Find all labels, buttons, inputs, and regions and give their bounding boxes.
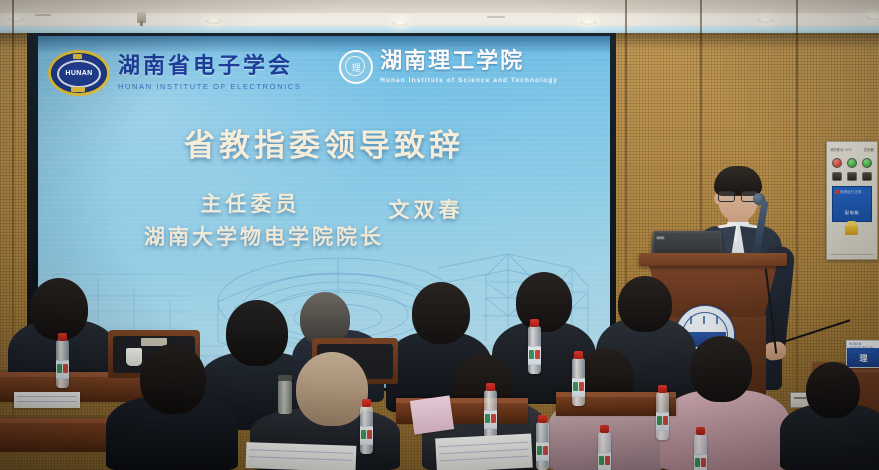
audience-person-head-bald — [296, 352, 368, 426]
hunan-electronics-logo: HUNAN 湖南省电子学会 HUNAN INSTITUTE OF ELECTRO… — [48, 50, 301, 96]
lectern-top-surface — [639, 253, 787, 266]
control-panel-lcd: 系统运行正常 配电箱 — [832, 186, 872, 222]
bell-icon — [845, 225, 858, 235]
university-crest-icon: 理 — [339, 50, 373, 84]
hunan-mark-text: HUNAN — [65, 70, 92, 77]
lcd-label: 配电箱 — [833, 210, 871, 216]
slide-speaker-name: 文双春 — [389, 194, 464, 224]
placard-name: 理 — [847, 353, 879, 364]
slide-role: 主任委员 — [201, 188, 301, 218]
hunan-ist-logo: 理 湖南理工学院 Hunan Institute of Science and … — [339, 50, 558, 84]
ceiling-vent — [487, 16, 505, 18]
audience-person-head — [618, 276, 672, 332]
water-bottle — [572, 358, 585, 406]
water-bottle — [528, 326, 541, 374]
document-sheet — [14, 392, 80, 408]
power-lamp-icon — [847, 158, 857, 168]
thermos-flask — [278, 380, 292, 414]
reset-button[interactable] — [832, 172, 842, 181]
downlight-icon — [205, 18, 222, 24]
water-bottle — [598, 432, 611, 470]
audience-person-head — [412, 282, 470, 344]
downlight-icon — [392, 20, 409, 26]
audience-person-head — [806, 362, 860, 418]
conference-photo-scene: HUNAN 湖南省电子学会 HUNAN INSTITUTE OF ELECTRO… — [0, 0, 879, 470]
sprinkler-icon — [137, 12, 146, 23]
downlight-icon — [580, 19, 597, 25]
slide-logo-row: HUNAN 湖南省电子学会 HUNAN INSTITUTE OF ELECTRO… — [38, 48, 610, 110]
left-logo-en-text: HUNAN INSTITUTE OF ELECTRONICS — [118, 82, 301, 91]
downlight-icon — [757, 17, 774, 23]
laptop-logo-icon — [656, 236, 664, 239]
eyeglasses-icon — [718, 191, 758, 201]
water-bottle — [694, 434, 707, 470]
paper-cup — [126, 348, 142, 366]
right-logo-cn-text: 湖南理工学院 — [380, 51, 558, 73]
water-bottle — [360, 406, 373, 454]
audience-person-head — [690, 336, 752, 402]
water-bottle — [484, 390, 497, 438]
fire-control-panel[interactable]: 消防联动 CFD 控制器 系统运行正常 配电箱 — [826, 141, 878, 260]
audience-person-head — [140, 344, 206, 414]
audience-person-shoulders — [660, 390, 790, 470]
slide-title: 省教指委领导致辞 — [38, 120, 610, 165]
slide-role-line: 主任委员 文双春 — [38, 188, 610, 218]
downlight-icon — [8, 16, 25, 22]
control-panel-header: 消防联动 CFD 控制器 — [830, 145, 874, 154]
crest-glyph: 理 — [352, 61, 361, 74]
water-bottle — [656, 392, 669, 440]
ceiling-vent — [35, 14, 51, 16]
audience-person-head — [30, 278, 88, 340]
lcd-status-line: 系统运行正常 — [835, 189, 862, 194]
slide-affiliation: 湖南大学物电学院院长 — [38, 221, 610, 251]
document-sheet — [410, 395, 454, 434]
alarm-lamp-icon — [832, 158, 842, 168]
document-sheet — [435, 434, 533, 470]
name-placard: HUNAN INSTITUTE OF ELECTRONICS 理 — [846, 340, 879, 368]
water-bottle — [536, 422, 549, 470]
indicator-lamp-row — [832, 158, 872, 168]
ceiling-slab — [0, 0, 879, 13]
left-logo-cn-text: 湖南省电子学会 — [118, 56, 301, 78]
silence-button[interactable] — [847, 172, 857, 181]
hunan-oval-icon: HUNAN — [48, 50, 110, 96]
control-button-row[interactable] — [832, 172, 872, 181]
control-panel-header-right: 控制器 — [864, 147, 874, 152]
audience-person-head — [516, 272, 572, 332]
test-button[interactable] — [862, 172, 872, 181]
right-logo-en-text: Hunan Institute of Science and Technolog… — [380, 77, 558, 84]
water-bottle — [56, 340, 69, 388]
audience-person-head — [226, 300, 288, 366]
control-panel-header-left: 消防联动 CFD — [830, 147, 852, 152]
document-sheet — [246, 442, 357, 470]
panel-divider — [831, 254, 873, 255]
ready-lamp-icon — [862, 158, 872, 168]
downlight-icon — [866, 14, 879, 20]
